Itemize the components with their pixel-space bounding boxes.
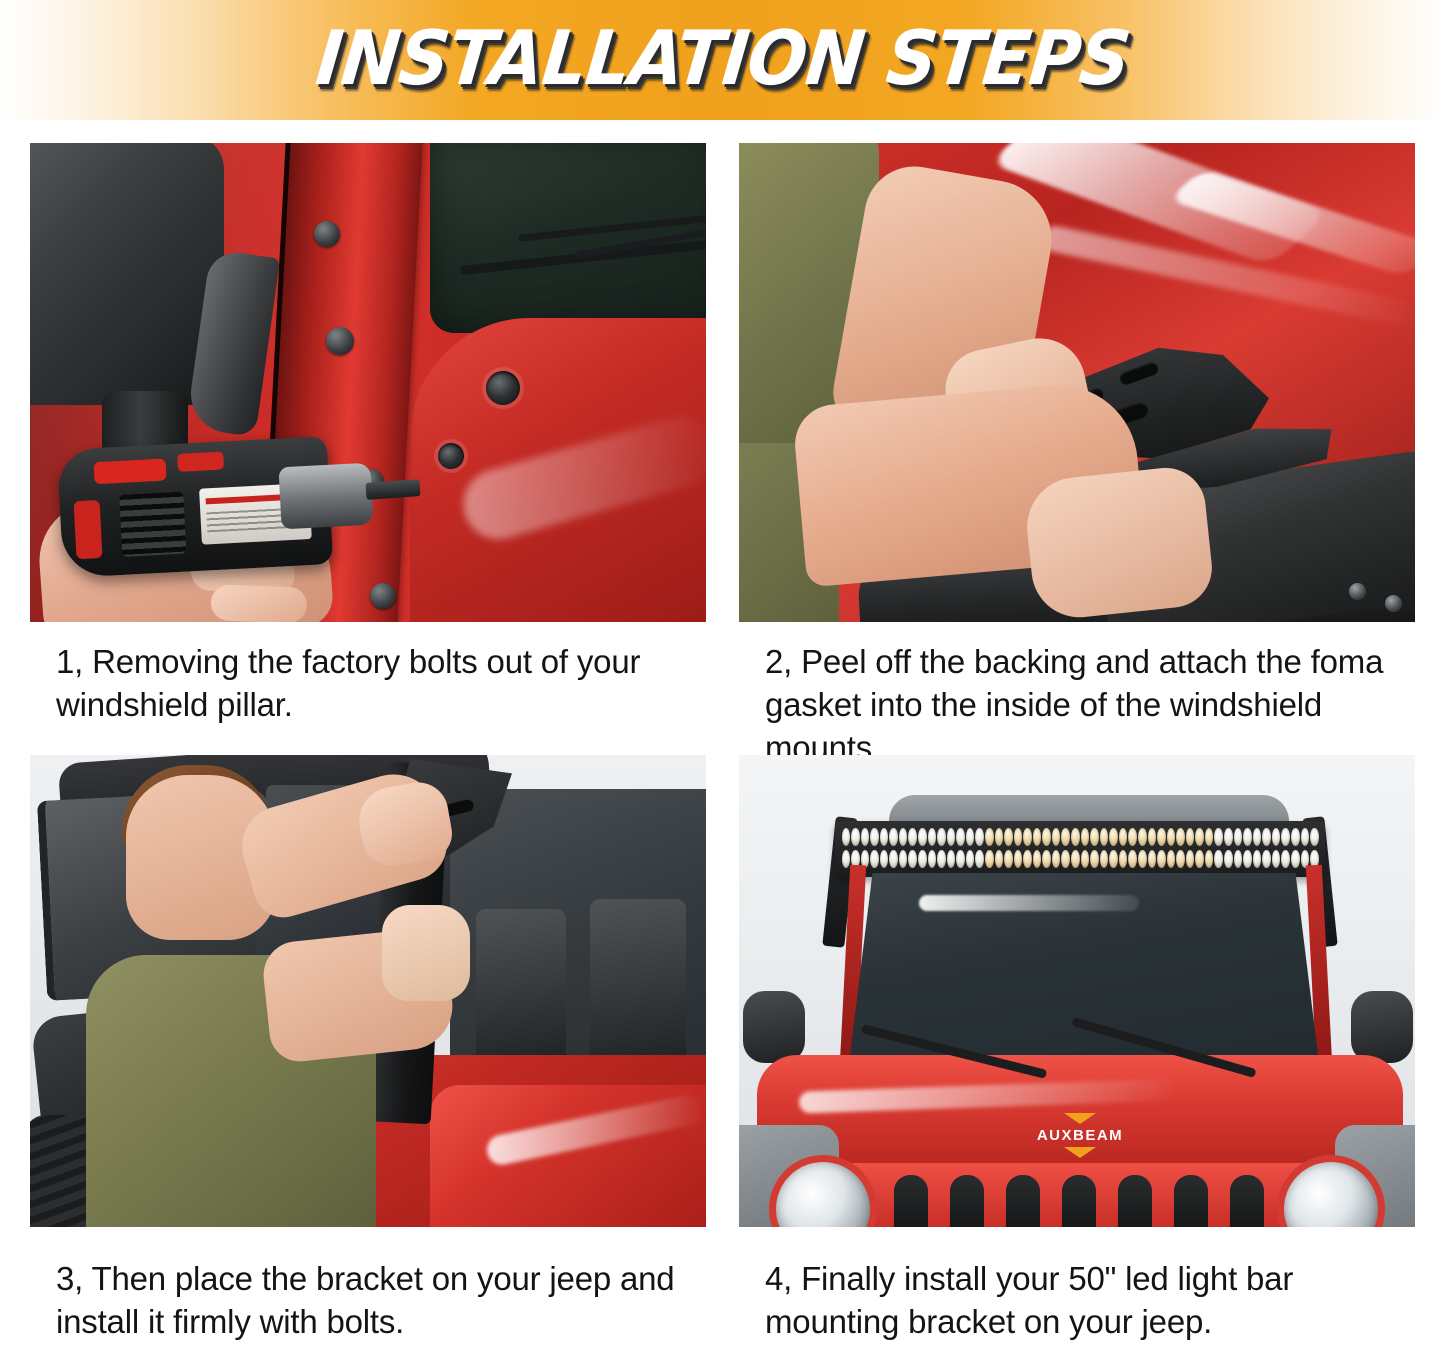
step-card-1: 1, Removing the factory bolts out of you… [30,143,706,755]
led-emitter [1262,828,1271,846]
led-row-bottom [841,850,1319,868]
tool-red-accent [177,451,224,471]
led-emitter [1195,850,1204,868]
led-emitter [956,850,965,868]
led-emitter [995,828,1004,846]
led-emitter [889,850,898,868]
led-emitter [966,828,975,846]
led-emitter [1224,850,1233,868]
led-emitter [1042,850,1051,868]
led-emitter [1071,828,1080,846]
factory-bolt [326,327,354,355]
step-2-photo [739,143,1415,622]
led-emitter [1291,850,1300,868]
chevron-down-icon [1064,1147,1096,1158]
led-emitter [1119,850,1128,868]
led-emitter [1014,850,1023,868]
led-emitter [937,850,946,868]
led-emitter [1023,828,1032,846]
step-card-4: AUXBEAM 4, Finally install your 50" led … [739,755,1415,1337]
led-emitter [1272,828,1281,846]
led-emitter [1109,850,1118,868]
tool-chuck [278,463,373,530]
led-emitter [1167,850,1176,868]
led-emitter [1253,828,1262,846]
led-emitter [908,850,917,868]
led-emitter [1100,828,1109,846]
led-emitter [1234,850,1243,868]
led-emitter [1052,850,1061,868]
led-emitter [1004,828,1013,846]
step-card-2: 2, Peel off the backing and attach the f… [739,143,1415,755]
led-emitter [1310,828,1319,846]
led-emitter [1052,828,1061,846]
led-emitter [899,828,908,846]
led-emitter [1128,828,1137,846]
led-emitter [1291,828,1300,846]
tool-red-accent [74,500,103,559]
led-emitter [1176,828,1185,846]
led-emitter [1205,850,1214,868]
page-title: INSTALLATION STEPS [312,21,1133,100]
led-emitter [1243,828,1252,846]
step-4-photo: AUXBEAM [739,755,1415,1227]
led-emitter [1157,828,1166,846]
led-emitter [1262,850,1271,868]
led-emitter [947,850,956,868]
led-emitter [842,828,851,846]
led-emitter [918,850,927,868]
led-emitter [1033,828,1042,846]
led-emitter [1042,828,1051,846]
seat [476,909,566,1059]
side-mirror-right [1351,991,1413,1063]
grille-slot [1006,1175,1040,1227]
led-emitter [975,828,984,846]
led-emitter [1061,828,1070,846]
led-emitter [1243,850,1252,868]
led-emitter [1090,828,1099,846]
led-emitter [1186,850,1195,868]
led-emitter [928,850,937,868]
led-emitter [1301,828,1310,846]
led-emitter [1081,828,1090,846]
led-emitter [1128,850,1137,868]
led-emitter [947,828,956,846]
led-emitter [1138,828,1147,846]
led-emitter [1214,828,1223,846]
step-2-caption: 2, Peel off the backing and attach the f… [739,622,1415,755]
led-emitter [1014,828,1023,846]
led-emitter [870,828,879,846]
led-emitter [851,828,860,846]
led-emitter [861,828,870,846]
led-emitter [937,828,946,846]
led-emitter [1004,850,1013,868]
mount-bolt [1385,595,1402,612]
led-emitter [899,850,908,868]
hand-lower [382,905,470,1001]
led-emitter [966,850,975,868]
bolt-hole [438,443,464,469]
led-emitter [985,850,994,868]
led-emitter [1100,850,1109,868]
auxbeam-hood-decal: AUXBEAM [985,1127,1175,1144]
led-emitter [1061,850,1070,868]
led-emitter [1138,850,1147,868]
mount-bolt [1349,583,1366,600]
jeep-grille [809,1163,1349,1227]
led-emitter [1033,850,1042,868]
grille-slot [1174,1175,1208,1227]
led-emitter [1157,850,1166,868]
step-card-3: 3, Then place the bracket on your jeep a… [30,755,706,1337]
grille-slot [1118,1175,1152,1227]
installation-steps-grid: 1, Removing the factory bolts out of you… [30,143,1415,1337]
header-banner: INSTALLATION STEPS [0,0,1445,120]
led-emitter [918,828,927,846]
finger [210,584,307,622]
led-emitter [1205,828,1214,846]
led-emitter [1224,828,1233,846]
tool-vent-grille [119,492,186,557]
led-emitter [889,828,898,846]
led-emitter [995,850,1004,868]
grille-slot [950,1175,984,1227]
step-1-photo [30,143,706,622]
led-emitter [1186,828,1195,846]
seat [590,899,686,1059]
led-emitter [1272,850,1281,868]
led-light-bar [835,821,1325,877]
led-emitter [956,828,965,846]
auxbeam-decal-text: AUXBEAM [1037,1127,1123,1144]
side-mirror-left [743,991,805,1063]
led-emitter [1253,850,1262,868]
factory-bolt [314,221,340,247]
led-emitter [1214,850,1223,868]
factory-bolt [370,583,396,609]
glass-reflection [919,895,1139,911]
led-emitter [1090,850,1099,868]
bolt-hole [486,371,520,405]
led-emitter [908,828,917,846]
grille-slot [894,1175,928,1227]
led-emitter [985,828,994,846]
led-emitter [1176,850,1185,868]
led-emitter [1167,828,1176,846]
led-emitter [975,850,984,868]
step-3-photo [30,755,706,1227]
led-emitter [880,850,889,868]
led-emitter [928,828,937,846]
led-emitter [1195,828,1204,846]
led-emitter [842,850,851,868]
step-3-caption: 3, Then place the bracket on your jeep a… [30,1227,706,1337]
step-4-caption: 4, Finally install your 50" led light ba… [739,1227,1415,1337]
led-emitter [1234,828,1243,846]
led-emitter [1081,850,1090,868]
bracket-slot [1118,361,1160,387]
grille-slot [1062,1175,1096,1227]
led-emitter [1119,828,1128,846]
led-emitter [870,850,879,868]
led-emitter [1148,850,1157,868]
led-emitter [1281,850,1290,868]
step-1-caption: 1, Removing the factory bolts out of you… [30,622,706,755]
tool-red-accent [94,458,167,484]
grille-slot [1230,1175,1264,1227]
led-emitter [1281,828,1290,846]
led-emitter [1109,828,1118,846]
led-emitter [1023,850,1032,868]
hand-lower [1022,464,1216,622]
chevron-up-icon [1064,1113,1096,1124]
led-emitter [880,828,889,846]
led-emitter [1148,828,1157,846]
led-emitter [1071,850,1080,868]
led-row-top [841,828,1319,846]
